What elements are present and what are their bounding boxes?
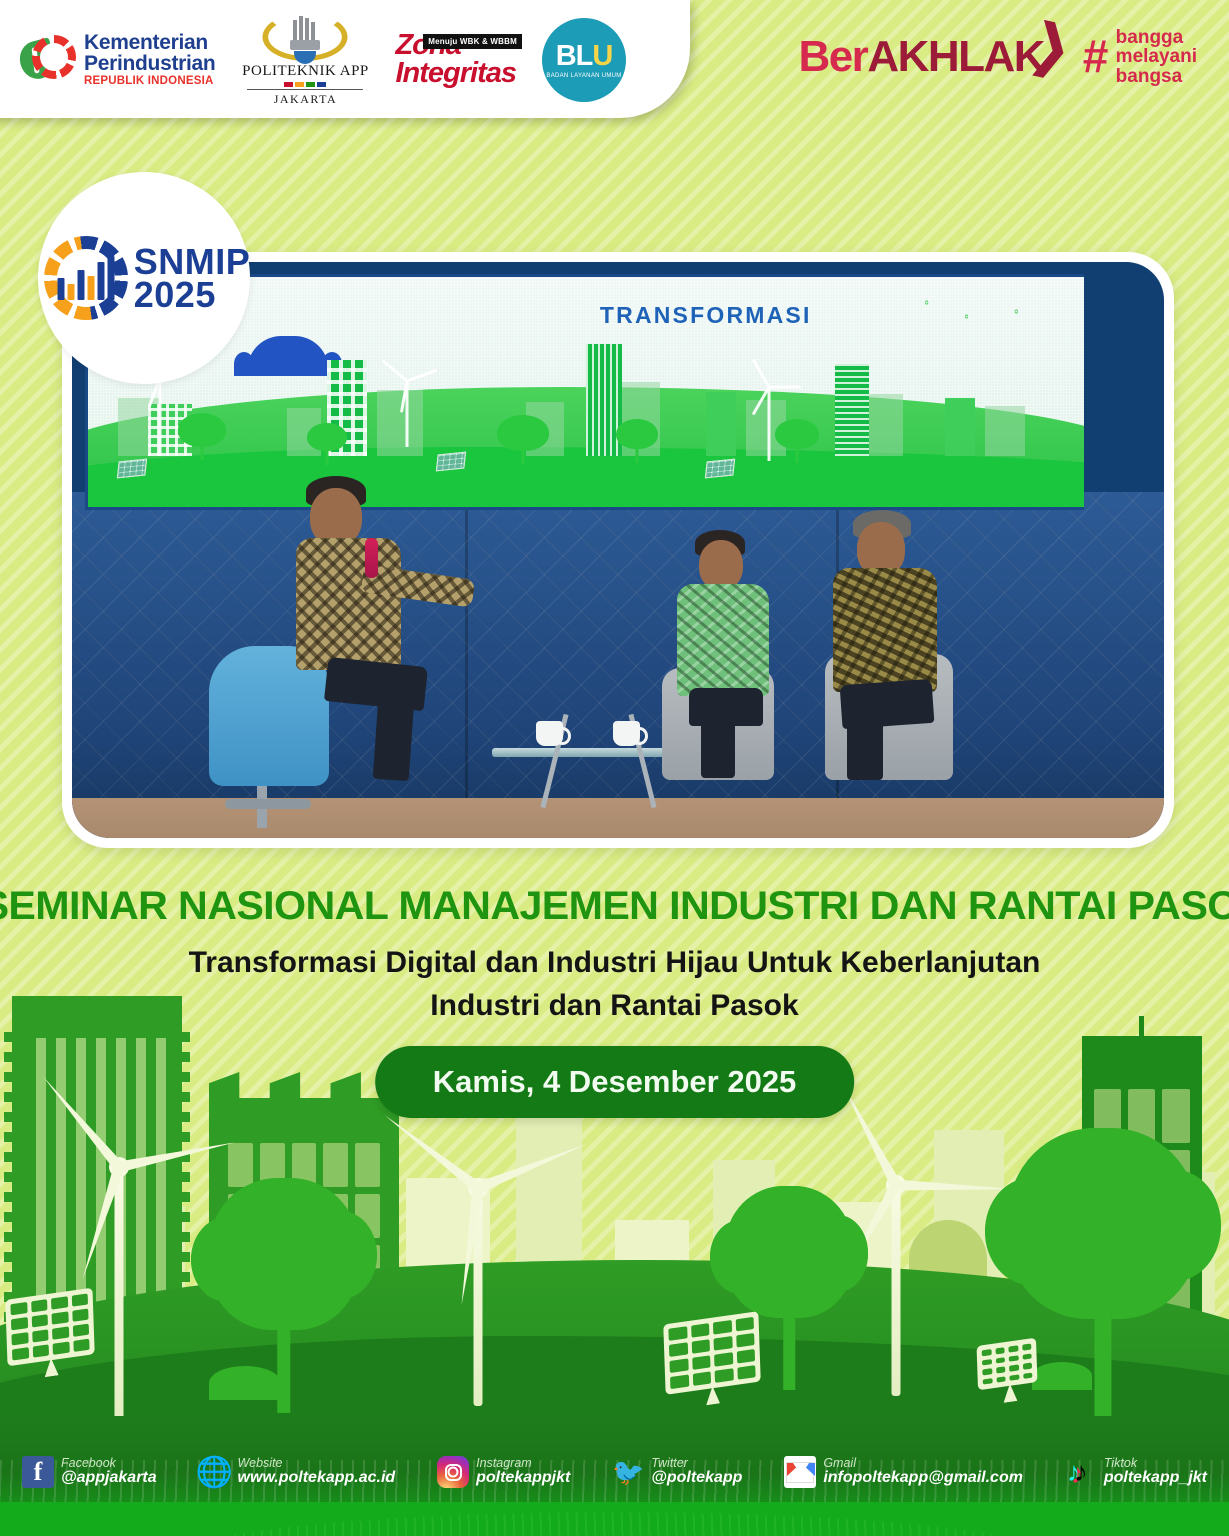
- social-item-twitter[interactable]: 🐦 Twitter @poltekapp: [612, 1456, 742, 1488]
- chair-base: [225, 799, 311, 809]
- gmail-address: infopoltekapp@gmail.com: [823, 1470, 1023, 1487]
- blu-acronym: BLU: [556, 42, 613, 71]
- blu-logo: BLU BADAN LAYANAN UMUM: [542, 18, 626, 102]
- facebook-icon[interactable]: f: [22, 1456, 54, 1488]
- bangga-melayani-bangsa-logo: # bangga melayani bangsa: [1082, 28, 1197, 86]
- berakhlak-logo: BerAKHLAK ❯ # bangga melayani bangsa: [798, 28, 1197, 86]
- speaker-2: [673, 530, 803, 780]
- kemenperin-line1: Kementerian: [84, 32, 215, 53]
- zona-integritas-logo: Zona Integritas Menuju WBK & WBBM: [395, 32, 516, 87]
- gmail-icon[interactable]: [784, 1456, 816, 1488]
- social-item-instagram[interactable]: Instagram poltekappjkt: [437, 1456, 570, 1488]
- social-item-facebook[interactable]: f Facebook @appjakarta: [22, 1456, 157, 1488]
- twitter-icon[interactable]: 🐦: [612, 1456, 644, 1488]
- chevron-icon: ❯: [1027, 16, 1073, 77]
- instagram-handle: poltekappjkt: [476, 1470, 570, 1487]
- politeknik-city: JAKARTA: [241, 92, 369, 107]
- facebook-handle: @appjakarta: [61, 1470, 157, 1487]
- snmip-year: 2025: [134, 278, 251, 311]
- politeknik-title: POLITEKNIK APP: [241, 63, 369, 80]
- social-item-website[interactable]: 🌐 Website www.poltekapp.ac.id: [199, 1456, 396, 1488]
- politeknik-color-bars: [241, 82, 369, 87]
- gear-chart-icon: [44, 236, 128, 320]
- coffee-cup: [613, 721, 640, 746]
- kemenperin-line2: Perindustrian: [84, 53, 215, 74]
- kemenperin-line3: REPUBLIK INDONESIA: [84, 76, 215, 88]
- speaker-3: [825, 510, 975, 780]
- berakhlak-wordmark: BerAKHLAK ❯: [798, 35, 1066, 79]
- wind-turbine: [418, 1126, 538, 1406]
- snmip-logo-badge: SNMIP 2025: [38, 172, 250, 384]
- subtitle-line-2: Industri dan Rantai Pasok: [0, 985, 1229, 1028]
- solar-panel: [977, 1338, 1038, 1391]
- solar-panel: [5, 1288, 94, 1367]
- social-item-gmail[interactable]: Gmail infopoltekapp@gmail.com: [784, 1456, 1023, 1488]
- bush: [209, 1366, 281, 1400]
- seminar-subtitle: Transformasi Digital dan Industri Hijau …: [0, 942, 1229, 1027]
- social-item-tiktok[interactable]: ♪ Tiktok poltekapp_jkt: [1065, 1456, 1207, 1488]
- wind-turbine: [49, 1094, 189, 1424]
- tagline-line3: bangsa: [1116, 67, 1197, 86]
- poster-root: Kementerian Perindustrian REPUBLIK INDON…: [0, 0, 1229, 1536]
- bush: [1032, 1362, 1092, 1390]
- zona-word2: Integritas: [395, 60, 516, 88]
- screen-title: TRANSFORMASI: [600, 302, 812, 329]
- tiktok-handle: poltekapp_jkt: [1104, 1470, 1207, 1487]
- twitter-handle: @poltekapp: [651, 1470, 742, 1487]
- berakhlak-part2: AKHLAK: [867, 32, 1044, 81]
- politeknik-crest-icon: [268, 13, 342, 61]
- tagline-line2: melayani: [1116, 47, 1197, 66]
- hash-icon: #: [1082, 36, 1108, 77]
- event-photo: ᭜ ᭜ ᭜ TRANSFORMASI: [72, 262, 1164, 838]
- speaker-1: [290, 476, 460, 786]
- event-date-pill: Kamis, 4 Desember 2025: [375, 1046, 855, 1118]
- berakhlak-part1: Ber: [798, 32, 867, 81]
- globe-icon[interactable]: 🌐: [199, 1456, 231, 1488]
- header-band: Kementerian Perindustrian REPUBLIK INDON…: [0, 0, 1229, 128]
- tiktok-icon[interactable]: ♪: [1065, 1456, 1097, 1488]
- politeknik-app-logo: POLITEKNIK APP JAKARTA: [241, 13, 369, 108]
- kemenperin-wordmark: Kementerian Perindustrian REPUBLIK INDON…: [84, 32, 215, 88]
- tagline-line1: bangga: [1116, 28, 1197, 47]
- blu-caption: BADAN LAYANAN UMUM: [546, 73, 621, 79]
- kemenperin-logo: Kementerian Perindustrian REPUBLIK INDON…: [20, 32, 215, 88]
- kemenperin-mark-icon: [20, 33, 76, 87]
- solar-panel: [663, 1311, 761, 1395]
- zona-badge: Menuju WBK & WBBM: [423, 34, 522, 49]
- seminar-title: SEMINAR NASIONAL MANAJEMEN INDUSTRI DAN …: [0, 884, 1229, 929]
- subtitle-line-1: Transformasi Digital dan Industri Hijau …: [0, 942, 1229, 985]
- institution-logo-row: Kementerian Perindustrian REPUBLIK INDON…: [20, 18, 626, 102]
- social-media-bar: f Facebook @appjakarta 🌐 Website www.pol…: [0, 1448, 1229, 1496]
- website-url: www.poltekapp.ac.id: [238, 1470, 396, 1487]
- instagram-icon[interactable]: [437, 1456, 469, 1488]
- coffee-cup: [536, 721, 563, 746]
